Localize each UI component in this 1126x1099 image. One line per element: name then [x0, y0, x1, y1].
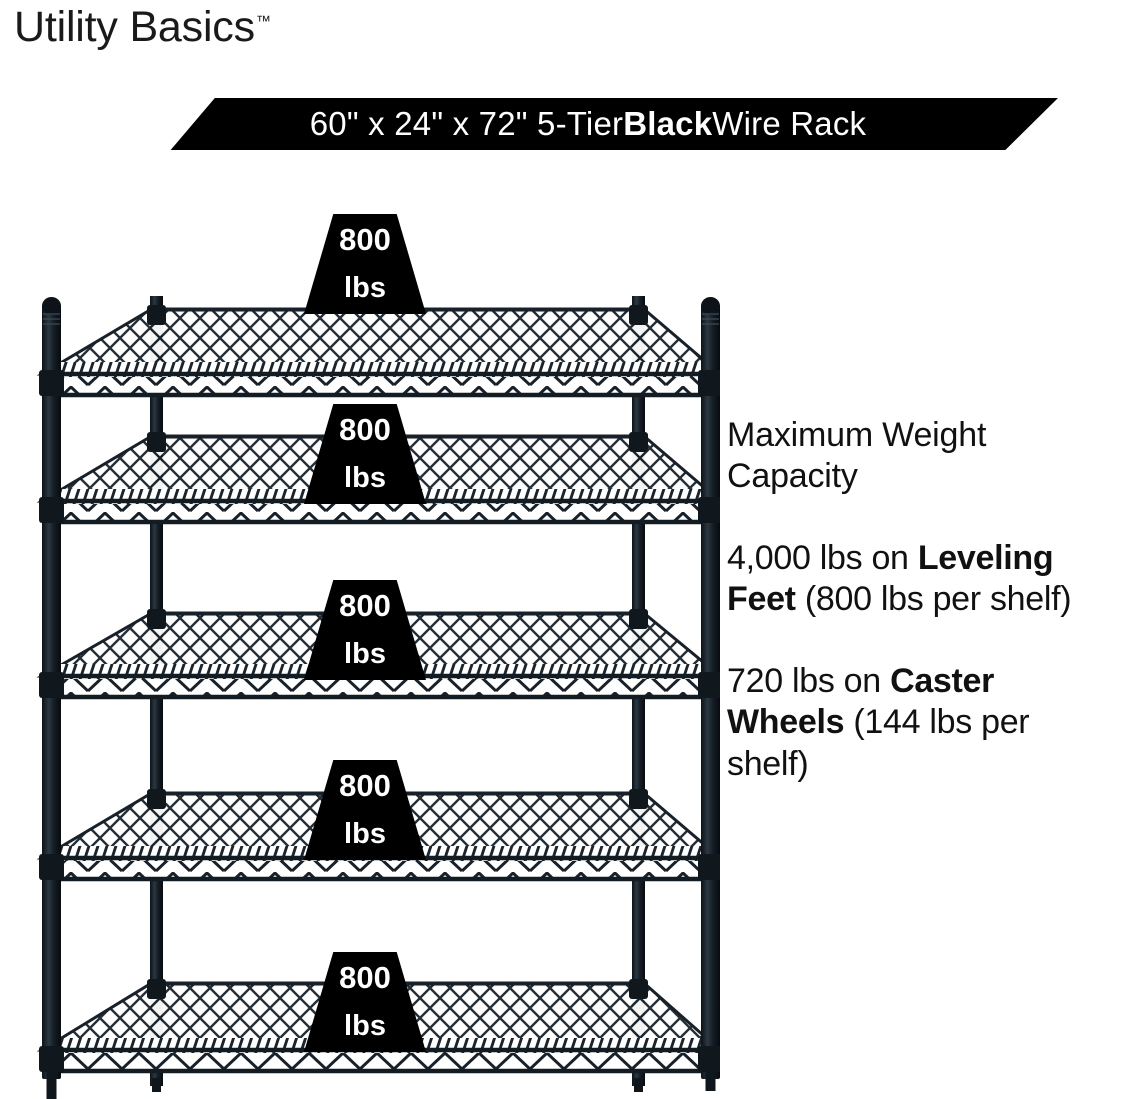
badge-unit: lbs [344, 274, 386, 304]
badge-number: 800 [339, 590, 391, 622]
banner-suffix: Wire Rack [712, 105, 866, 143]
capacity-badge-shelf-4: 800 lbs [304, 760, 426, 860]
banner-prefix: 60" x 24" x 72" 5-Tier [310, 105, 623, 143]
banner-emphasis: Black [623, 105, 712, 143]
capacity-badge-shelf-1: 800 lbs [304, 214, 426, 314]
badge-unit: lbs [344, 1012, 386, 1042]
leveling-feet [47, 1071, 716, 1099]
brand-logo: Utility Basics™ [14, 6, 271, 49]
leveling-suffix: (800 lbs per shelf) [796, 580, 1072, 618]
badge-unit: lbs [344, 820, 386, 850]
capacity-heading: Maximum Weight Capacity [727, 415, 1112, 498]
caster-prefix: 720 lbs on [727, 662, 890, 700]
capacity-badge-shelf-2: 800 lbs [304, 404, 426, 504]
product-title-banner: 60" x 24" x 72" 5-Tier Black Wire Rack [118, 98, 1058, 150]
brand-name: Utility Basics [14, 3, 255, 51]
badge-unit: lbs [344, 640, 386, 670]
capacity-info-panel: Maximum Weight Capacity 4,000 lbs on Lev… [727, 415, 1112, 785]
badge-number: 800 [339, 414, 391, 446]
capacity-badge-shelf-3: 800 lbs [304, 580, 426, 680]
leveling-feet-capacity: 4,000 lbs on Leveling Feet (800 lbs per … [727, 538, 1112, 621]
badge-number: 800 [339, 962, 391, 994]
badge-number: 800 [339, 770, 391, 802]
caster-wheels-capacity: 720 lbs on Caster Wheels (144 lbs per sh… [727, 661, 1112, 785]
badge-unit: lbs [344, 464, 386, 494]
shelf-1 [42, 310, 720, 395]
post-cap-icon [701, 297, 720, 315]
infographic-page: Utility Basics™ 60" x 24" x 72" 5-Tier B… [0, 0, 1126, 1099]
banner-title: 60" x 24" x 72" 5-Tier Black Wire Rack [118, 98, 1058, 150]
capacity-badge-shelf-5: 800 lbs [304, 952, 426, 1052]
leveling-prefix: 4,000 lbs on [727, 539, 918, 577]
trademark-symbol: ™ [256, 13, 271, 30]
badge-number: 800 [339, 224, 391, 256]
post-cap-icon [42, 297, 61, 315]
